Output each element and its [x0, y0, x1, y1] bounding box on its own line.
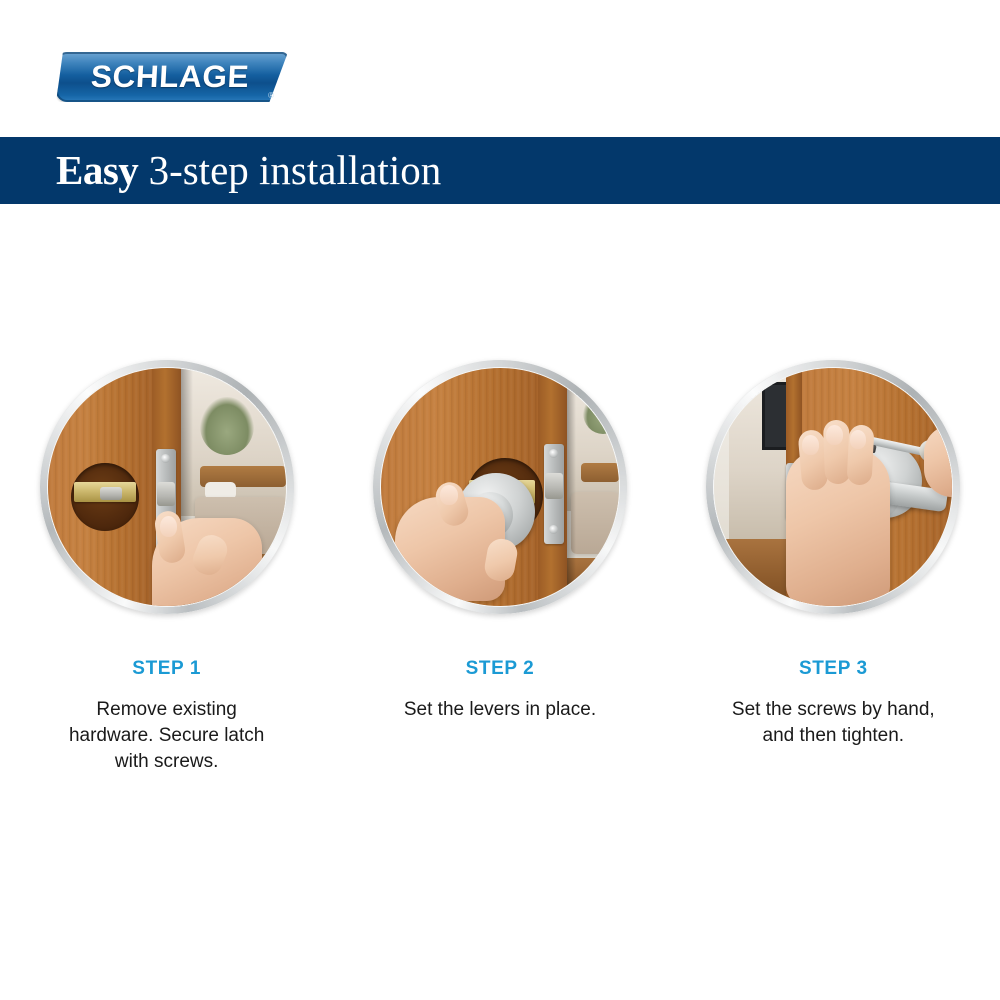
page-title: Easy 3-step installation — [56, 150, 441, 191]
scene-set-levers — [381, 368, 619, 606]
plant-decor — [200, 397, 254, 455]
fingernail-3 — [850, 430, 866, 449]
step-3-photo — [706, 360, 960, 614]
step-2-photo-inner — [381, 368, 619, 606]
step-1-photo-inner — [48, 368, 286, 606]
fingernail-1 — [802, 435, 819, 455]
bed-headboard — [581, 463, 619, 482]
latch-deadlatch — [157, 482, 175, 506]
registered-trademark-icon: ® — [268, 92, 274, 100]
step-card-3: STEP 3 Set the screws by hand, and then … — [667, 360, 1000, 775]
step-1-label: STEP 1 — [132, 658, 201, 680]
step-card-2: STEP 2 Set the levers in place. — [333, 360, 666, 775]
step-1-photo — [40, 360, 294, 614]
strike-bolt — [545, 473, 563, 499]
fingernail — [440, 485, 458, 505]
step-2-description: Set the levers in place. — [385, 697, 615, 723]
step-2-label: STEP 2 — [466, 658, 535, 680]
latch-bolt — [100, 487, 122, 500]
bed — [571, 492, 619, 554]
scene-remove-hardware — [48, 368, 286, 606]
scene-tighten-screws — [714, 368, 952, 606]
logo-wordmark: SCHLAGE — [69, 59, 271, 95]
step-1-description: Remove existing hardware. Secure latch w… — [52, 697, 282, 775]
step-2-photo — [373, 360, 627, 614]
fingernail-2 — [826, 425, 843, 445]
steps-row: STEP 1 Remove existing hardware. Secure … — [0, 360, 1000, 775]
header-band: Easy 3-step installation — [0, 137, 1000, 204]
door-edge-shadow — [567, 368, 577, 606]
strike-screw-bottom — [549, 525, 558, 534]
faceplate-screw-top — [161, 454, 170, 463]
step-3-label: STEP 3 — [799, 658, 868, 680]
fingernail — [160, 516, 177, 537]
page-title-light: 3-step installation — [138, 147, 441, 193]
page-title-bold: Easy — [56, 147, 138, 193]
plant-decor — [583, 392, 619, 434]
step-3-photo-inner — [714, 368, 952, 606]
schlage-logo: SCHLAGE ® — [56, 52, 288, 102]
step-3-description: Set the screws by hand, and then tighten… — [718, 697, 948, 749]
strike-screw-top — [549, 449, 558, 458]
step-card-1: STEP 1 Remove existing hardware. Secure … — [0, 360, 333, 775]
